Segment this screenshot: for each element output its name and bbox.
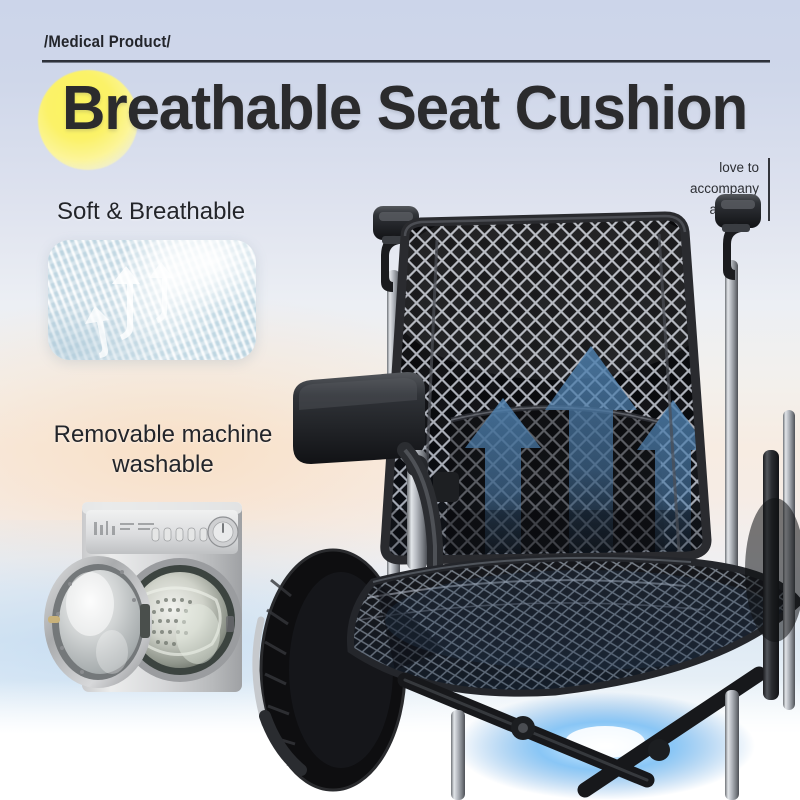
washing-machine-image	[30, 492, 252, 700]
support-bolt	[648, 739, 670, 761]
dial-knob-icon	[208, 517, 238, 547]
wheelchair-product-image	[255, 150, 800, 800]
front-post	[451, 710, 465, 800]
right-side-frame	[745, 410, 800, 710]
front-post	[725, 690, 739, 800]
washer-hinge	[140, 604, 150, 638]
feature-label-washable: Removable machine washable	[38, 420, 288, 480]
washer-door-latch	[48, 616, 60, 623]
feature-label-breathable: Soft & Breathable	[57, 198, 245, 226]
washer-door-open	[44, 556, 152, 688]
category-kicker: /Medical Product/	[44, 32, 171, 52]
airflow-arrow-icon	[85, 306, 109, 358]
airflow-arrow-icon	[149, 262, 173, 323]
armrest-bracket	[433, 472, 459, 502]
header-divider	[42, 60, 770, 63]
airflow-arrow-icon	[112, 266, 140, 340]
page-title: Breathable Seat Cushion	[62, 76, 747, 141]
breathable-fabric-image	[48, 240, 256, 360]
product-poster: /Medical Product/ Breathable Seat Cushio…	[0, 0, 800, 800]
airflow-arrows-group	[48, 240, 256, 360]
